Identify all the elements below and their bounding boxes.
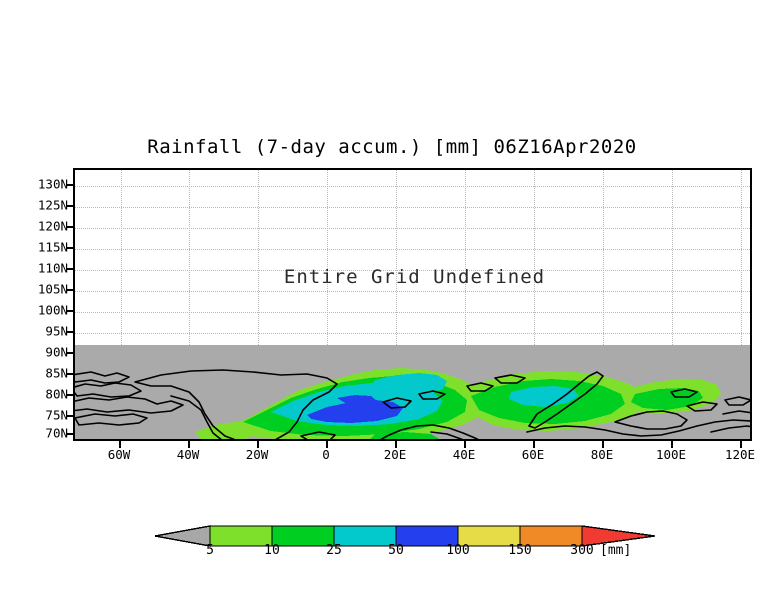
xtick-label: 40E <box>453 447 476 462</box>
xtick-label: 120E <box>725 447 755 462</box>
xtick-label: 40W <box>177 447 200 462</box>
xtick-label: 0 <box>322 447 330 462</box>
map-plot-area: Entire Grid Undefined <box>73 168 752 441</box>
xtick-label: 80E <box>591 447 614 462</box>
colorbar-swatch-5-10 <box>210 526 272 546</box>
colorbar-swatch-10-25 <box>272 526 334 546</box>
ytick-label: 100N <box>38 303 68 318</box>
colorbar-tick-label: 5 <box>206 543 214 558</box>
colorbar-tick-label: 300 <box>570 543 593 558</box>
ytick-label: 105N <box>38 282 68 297</box>
xtick-label: 20E <box>384 447 407 462</box>
ytick-label: 90N <box>45 345 68 360</box>
xtick-label: 100E <box>656 447 686 462</box>
xtick-label: 60E <box>522 447 545 462</box>
ytick-label: 95N <box>45 324 68 339</box>
ytick-label: 85N <box>45 366 68 381</box>
colorbar-tick-label: 10 <box>264 543 280 558</box>
colorbar-swatch-below-5 <box>155 526 210 546</box>
ytick-label: 75N <box>45 408 68 423</box>
ytick-label: 70N <box>45 426 68 441</box>
colorbar-swatch-25-50 <box>334 526 396 546</box>
ytick-label: 120N <box>38 219 68 234</box>
ytick-label: 110N <box>38 261 68 276</box>
colorbar-tick-label: 150 <box>508 543 531 558</box>
precipitation-shading <box>195 368 721 441</box>
map-and-data-layer <box>75 170 752 441</box>
xtick-label: 20W <box>246 447 269 462</box>
colorbar-tick-label: 100 <box>446 543 469 558</box>
xtick-label: 60W <box>108 447 131 462</box>
colorbar-tick-label: 50 <box>388 543 404 558</box>
colorbar <box>155 518 655 566</box>
colorbar-unit-label: [mm] <box>600 543 631 558</box>
ytick-label: 125N <box>38 198 68 213</box>
ytick-label: 115N <box>38 240 68 255</box>
colorbar-tick-label: 25 <box>326 543 342 558</box>
ytick-label: 130N <box>38 177 68 192</box>
ytick-label: 80N <box>45 387 68 402</box>
page-title: Rainfall (7-day accum.) [mm] 06Z16Apr202… <box>0 136 784 158</box>
